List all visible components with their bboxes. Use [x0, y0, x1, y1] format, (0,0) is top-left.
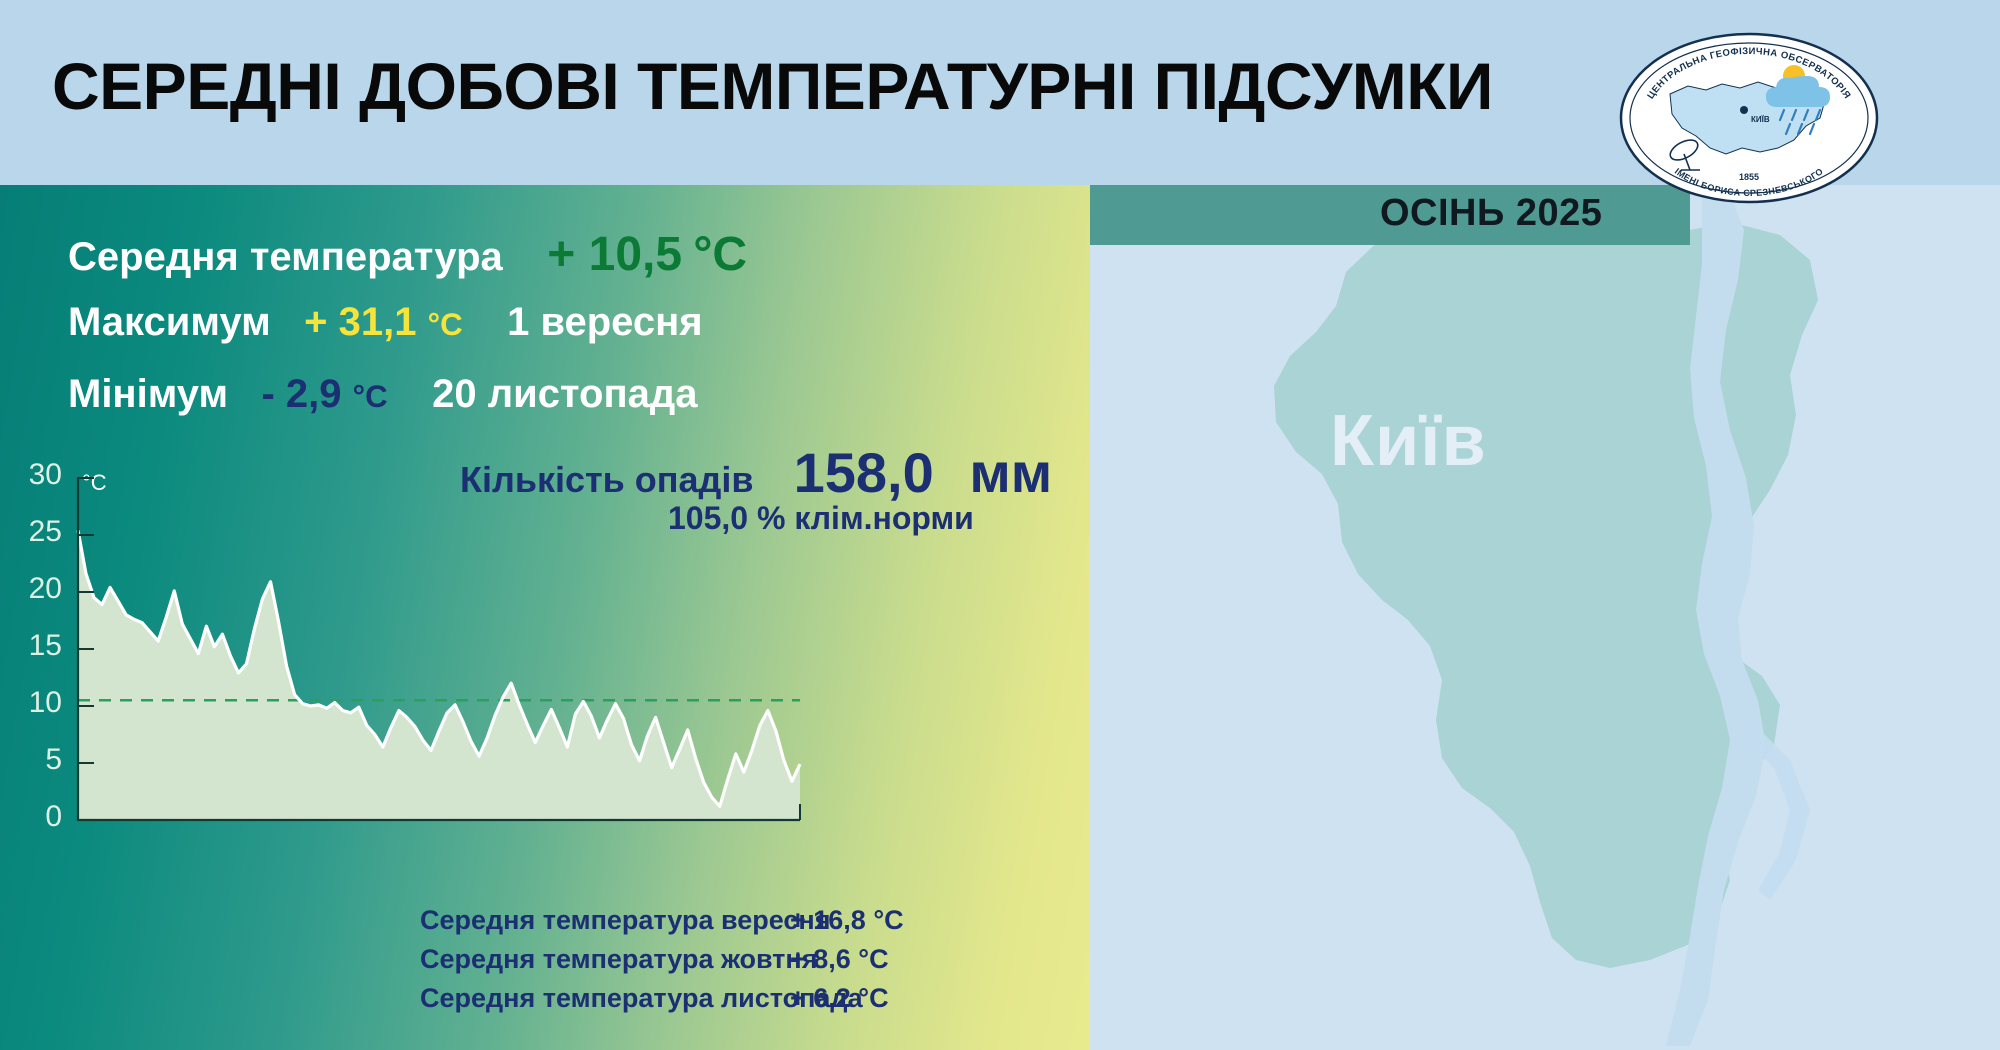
logo-city-label: КИЇВ	[1751, 115, 1770, 124]
stat-maximum-label: Максимум	[68, 300, 271, 344]
logo-year: 1855	[1739, 172, 1759, 182]
monthly-average-label: Середня температура жовтня	[420, 944, 790, 975]
stat-maximum-date: 1 вересня	[507, 300, 703, 344]
chart-area-fill	[78, 530, 800, 820]
stat-minimum-label: Мінімум	[68, 372, 228, 416]
monthly-average-row: Середня температура жовтня+ 8,6 °C	[420, 944, 1060, 975]
observatory-logo: ЦЕНТРАЛЬНА ГЕОФІЗИЧНА ОБСЕРВАТОРІЯ ІМЕНІ…	[1618, 32, 1880, 204]
page-title: СЕРЕДНІ ДОБОВІ ТЕМПЕРАТУРНІ ПІДСУМКИ	[52, 48, 1493, 124]
stat-average-label: Середня температура	[68, 235, 503, 279]
monthly-average-row: Середня температура вересня+ 16,8 °C	[420, 905, 1060, 936]
stat-average-unit: °C	[693, 228, 747, 281]
monthly-average-list: Середня температура вересня+ 16,8 °CСере…	[420, 905, 1060, 1022]
stat-average: Середня температура + 10,5 °C	[68, 227, 747, 282]
monthly-average-label: Середня температура листопада	[420, 983, 790, 1014]
stat-maximum-value: + 31,1	[304, 300, 416, 344]
monthly-average-row: Середня температура листопада+ 6,2 °C	[420, 983, 1060, 1014]
stat-maximum: Максимум + 31,1 °C 1 вересня	[68, 300, 703, 345]
monthly-average-value: + 16,8 °C	[790, 905, 965, 936]
monthly-average-value: + 8,6 °C	[790, 944, 965, 975]
stat-average-value: + 10,5	[547, 228, 682, 281]
stat-minimum: Мінімум - 2,9 °C 20 листопада	[68, 372, 698, 417]
stat-maximum-unit: °C	[428, 307, 463, 342]
monthly-average-value: + 6,2 °C	[790, 983, 965, 1014]
monthly-average-label: Середня температура вересня	[420, 905, 790, 936]
stat-minimum-unit: °C	[353, 379, 388, 414]
stat-minimum-date: 20 листопада	[432, 372, 697, 416]
kyiv-map-svg	[1090, 160, 2000, 1050]
map-city-label: Київ	[1330, 400, 1487, 482]
season-label: ОСІНЬ 2025	[1380, 192, 1602, 235]
daily-temperature-chart	[20, 460, 1060, 880]
kyiv-dot-icon	[1740, 106, 1748, 114]
stat-minimum-value: - 2,9	[261, 372, 341, 416]
